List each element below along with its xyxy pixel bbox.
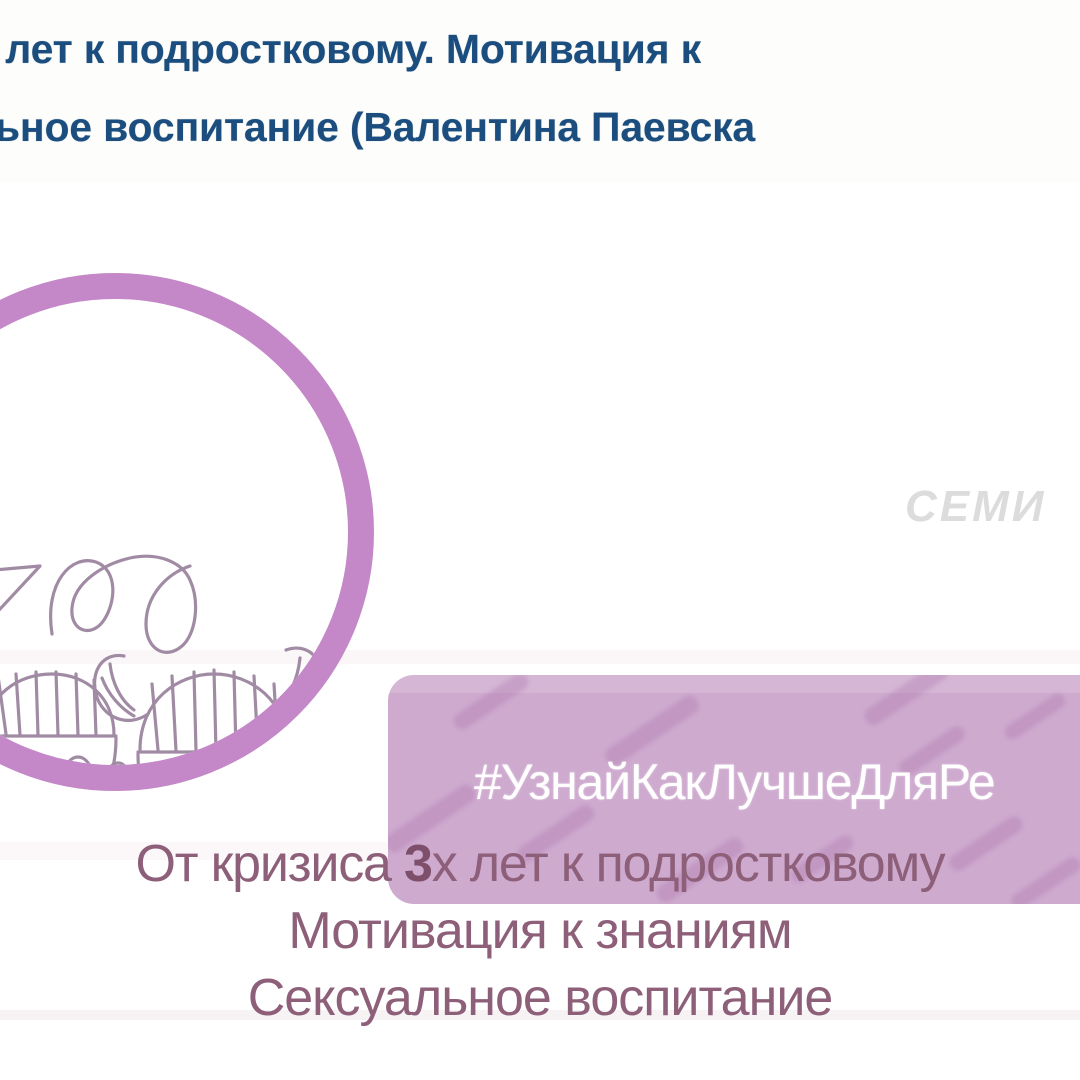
caption-line-1-prefix: От кризиса bbox=[136, 835, 404, 893]
caption-block: От кризиса 3х лет к подростковому Мотива… bbox=[0, 838, 1080, 1024]
page-title-line-2: ксуальное воспитание (Валентина Паевска bbox=[0, 104, 755, 151]
caption-line-3: Сексуальное воспитание bbox=[0, 972, 1080, 1024]
watermark-text: СЕМИ bbox=[905, 482, 1046, 532]
caption-line-1: От кризиса 3х лет к подростковому bbox=[0, 838, 1080, 890]
looping-trail-icon bbox=[51, 556, 196, 652]
page-title-line-1: за 3-х лет к подростковому. Мотивация к bbox=[0, 26, 701, 73]
ribbon-streak bbox=[1002, 691, 1068, 743]
caption-line-2: Мотивация к знаниям bbox=[0, 905, 1080, 957]
page-title-banner: за 3-х лет к подростковому. Мотивация к … bbox=[0, 0, 1080, 182]
badge-ring bbox=[0, 286, 361, 778]
paper-plane-icon bbox=[0, 566, 40, 652]
hashtag-text: #УзнайКакЛучшеДляРе bbox=[388, 753, 1080, 811]
caption-age-number: 3 bbox=[404, 835, 432, 893]
caption-line-1-suffix: х лет к подростковому bbox=[432, 835, 945, 893]
